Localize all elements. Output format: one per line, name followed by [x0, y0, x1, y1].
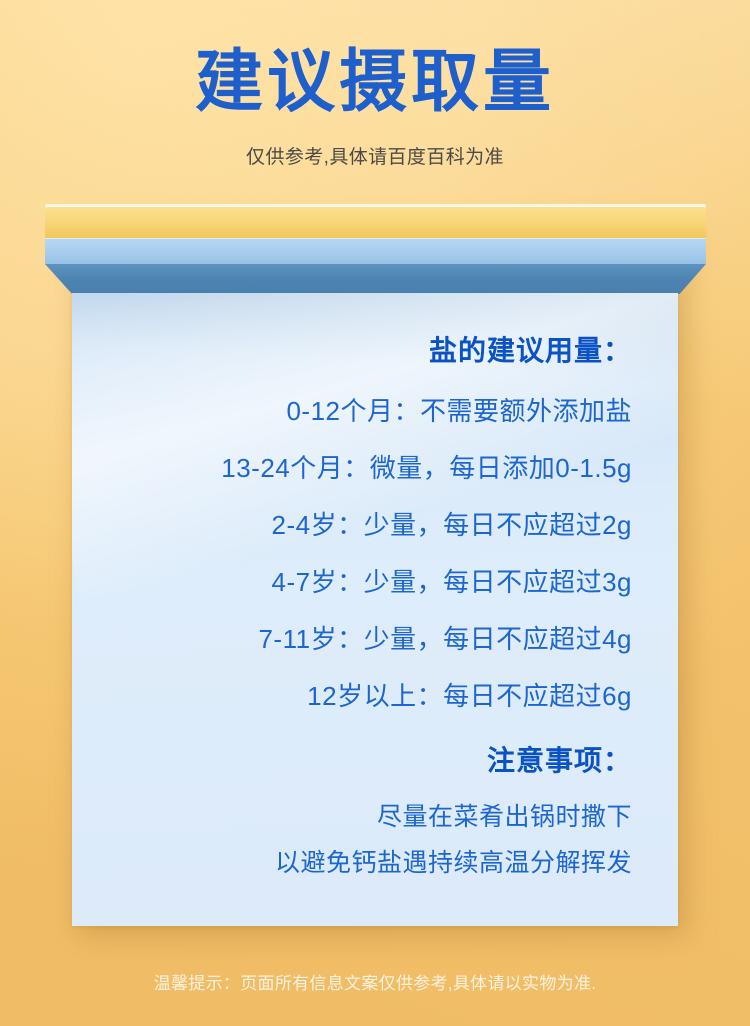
page-title: 建议摄取量: [0, 48, 750, 116]
info-card: 盐的建议用量： 0-12个月：不需要额外添加盐 13-24个月：微量，每日添加0…: [0, 196, 750, 936]
list-item: 2-4岁：少量，每日不应超过2g: [100, 505, 632, 542]
footer-disclaimer: 温馨提示：页面所有信息文案仅供参考,具体请以实物为准.: [154, 969, 597, 994]
list-item: 13-24个月：微量，每日添加0-1.5g: [100, 448, 632, 485]
notes-section-heading: 注意事项：: [100, 739, 632, 779]
list-item: 12岁以上：每日不应超过6g: [100, 676, 632, 713]
card-light-blue-band: [45, 238, 706, 264]
salt-section-heading: 盐的建议用量：: [100, 329, 632, 369]
card-dark-blue-band: [45, 264, 706, 294]
page-header: 建议摄取量 仅供参考,具体请百度百科为准: [0, 0, 750, 196]
list-item: 以避免钙盐遇持续高温分解挥发: [100, 843, 632, 879]
page-footer: 温馨提示：页面所有信息文案仅供参考,具体请以实物为准.: [0, 936, 750, 1026]
list-item: 4-7岁：少量，每日不应超过3g: [100, 562, 632, 599]
card-panel: 盐的建议用量： 0-12个月：不需要额外添加盐 13-24个月：微量，每日添加0…: [72, 293, 678, 926]
page-subtitle: 仅供参考,具体请百度百科为准: [0, 142, 750, 169]
list-item: 尽量在菜肴出锅时撒下: [100, 797, 632, 833]
salt-dosage-list: 0-12个月：不需要额外添加盐 13-24个月：微量，每日添加0-1.5g 2-…: [100, 391, 632, 713]
card-content: 盐的建议用量： 0-12个月：不需要额外添加盐 13-24个月：微量，每日添加0…: [72, 293, 678, 879]
list-item: 7-11岁：少量，每日不应超过4g: [100, 619, 632, 656]
list-item: 0-12个月：不需要额外添加盐: [100, 391, 632, 428]
card-gold-lip: [45, 206, 706, 238]
notes-list: 尽量在菜肴出锅时撒下 以避免钙盐遇持续高温分解挥发: [100, 797, 632, 879]
